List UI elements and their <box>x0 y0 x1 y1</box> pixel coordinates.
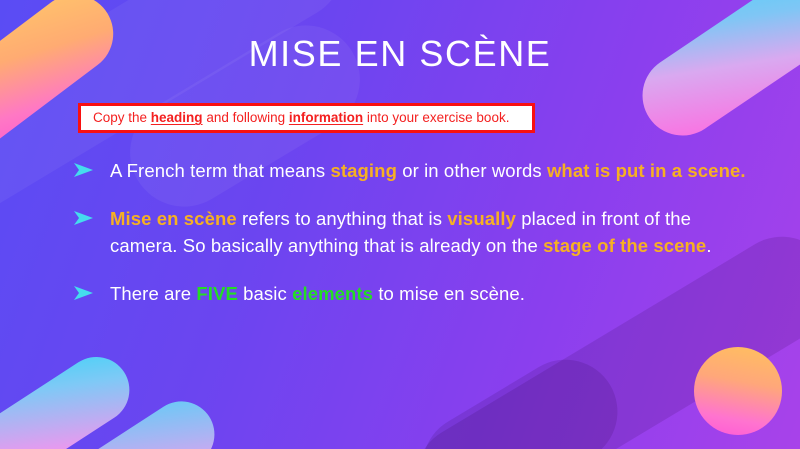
bullet-text-1: A French term that means staging or in o… <box>110 158 746 184</box>
arrow-right-icon <box>74 163 94 177</box>
list-item: Mise en scène refers to anything that is… <box>74 206 746 259</box>
instruction-link-information: information <box>289 110 363 125</box>
text-run-plain: . <box>706 235 711 256</box>
text-run-plain: A French term that means <box>110 160 330 181</box>
text-run-gold: staging <box>330 160 396 181</box>
list-item: There are FIVE basic elements to mise en… <box>74 281 746 307</box>
instruction-middle: and following <box>203 110 289 125</box>
bullet-list: A French term that means staging or in o… <box>74 158 746 307</box>
text-run-gold: Mise en scène <box>110 208 237 229</box>
instruction-suffix: into your exercise book. <box>363 110 509 125</box>
text-run-plain: or in other words <box>397 160 547 181</box>
bullet-text-2: Mise en scène refers to anything that is… <box>110 206 746 259</box>
text-run-gold: what is put in a scene. <box>547 160 746 181</box>
arrow-right-icon <box>74 286 94 300</box>
text-run-green: elements <box>292 283 373 304</box>
text-run-plain: refers to anything that is <box>237 208 448 229</box>
arrow-right-icon <box>74 211 94 225</box>
text-run-plain: basic <box>238 283 292 304</box>
instruction-link-heading: heading <box>151 110 203 125</box>
presentation-slide: MISE EN SCÈNE Copy the heading and follo… <box>0 0 800 449</box>
text-run-gold: visually <box>447 208 516 229</box>
slide-content: MISE EN SCÈNE Copy the heading and follo… <box>0 0 800 449</box>
instruction-callout-box: Copy the heading and following informati… <box>78 103 535 133</box>
list-item: A French term that means staging or in o… <box>74 158 746 184</box>
text-run-green: FIVE <box>196 283 238 304</box>
bullet-text-3: There are FIVE basic elements to mise en… <box>110 281 746 307</box>
text-run-plain: to mise en scène. <box>373 283 525 304</box>
instruction-text: Copy the heading and following informati… <box>81 111 509 125</box>
page-title: MISE EN SCÈNE <box>0 36 800 72</box>
instruction-prefix: Copy the <box>93 110 151 125</box>
text-run-gold: stage of the scene <box>543 235 706 256</box>
text-run-plain: There are <box>110 283 196 304</box>
